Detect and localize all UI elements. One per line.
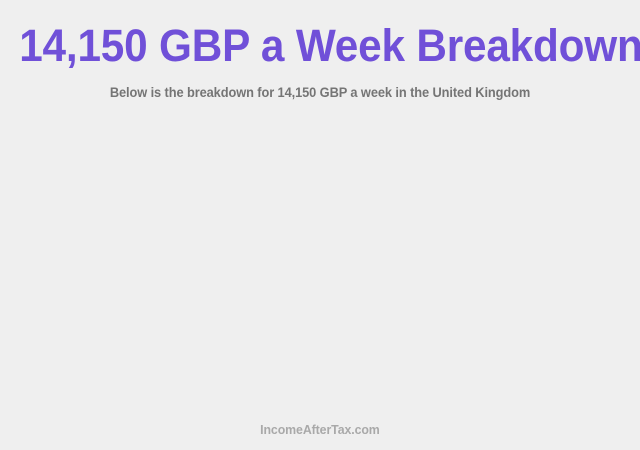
page-footer: IncomeAfterTax.com: [0, 421, 640, 439]
breakdown-content-area: [0, 115, 640, 410]
breakdown-page: 14,150 GBP a Week Breakdown Below is the…: [0, 0, 640, 450]
page-subtitle: Below is the breakdown for 14,150 GBP a …: [16, 84, 624, 102]
page-title: 14,150 GBP a Week Breakdown: [19, 20, 621, 72]
site-brand-label: IncomeAfterTax.com: [260, 422, 380, 438]
